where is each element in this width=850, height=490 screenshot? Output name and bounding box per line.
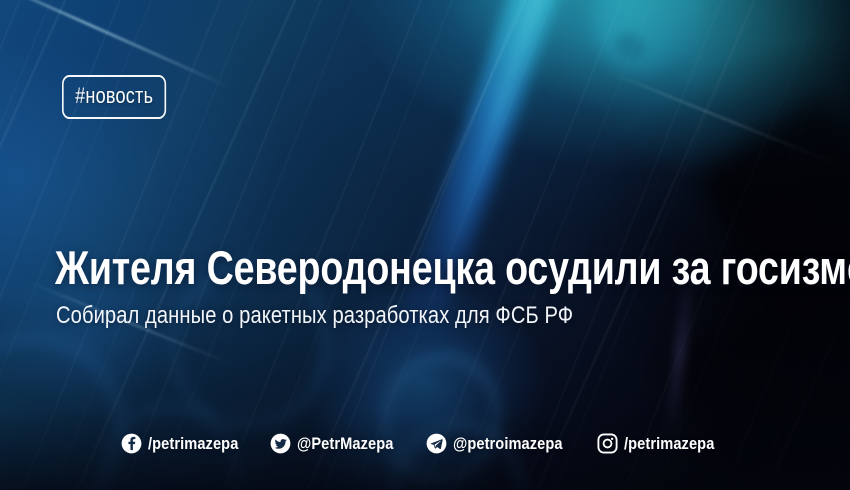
news-card: #новость Жителя Северодонецка осудили за… (0, 0, 850, 490)
facebook-icon (121, 433, 142, 454)
twitter-icon (270, 433, 291, 454)
news-tag-badge[interactable]: #новость (62, 75, 166, 119)
instagram-icon (597, 433, 618, 454)
social-handle: /petrimazepa (624, 434, 714, 454)
social-bar: /petrimazepa @PetrMazepa @petroimazepa (0, 433, 850, 454)
telegram-icon (426, 433, 447, 454)
card-content: #новость Жителя Северодонецка осудили за… (0, 0, 850, 490)
headline: Жителя Северодонецка осудили за госизмен… (55, 243, 850, 292)
subtitle: Собирал данные о ракетных разработках дл… (56, 302, 573, 330)
social-link-facebook[interactable]: /petrimazepa (121, 433, 253, 454)
social-link-instagram[interactable]: /petrimazepa (597, 433, 729, 454)
social-link-telegram[interactable]: @petroimazepa (426, 433, 580, 454)
social-handle: /petrimazepa (148, 434, 238, 454)
social-link-twitter[interactable]: @PetrMazepa (270, 433, 409, 454)
social-handle: @petroimazepa (453, 434, 563, 454)
social-handle: @PetrMazepa (297, 434, 393, 454)
